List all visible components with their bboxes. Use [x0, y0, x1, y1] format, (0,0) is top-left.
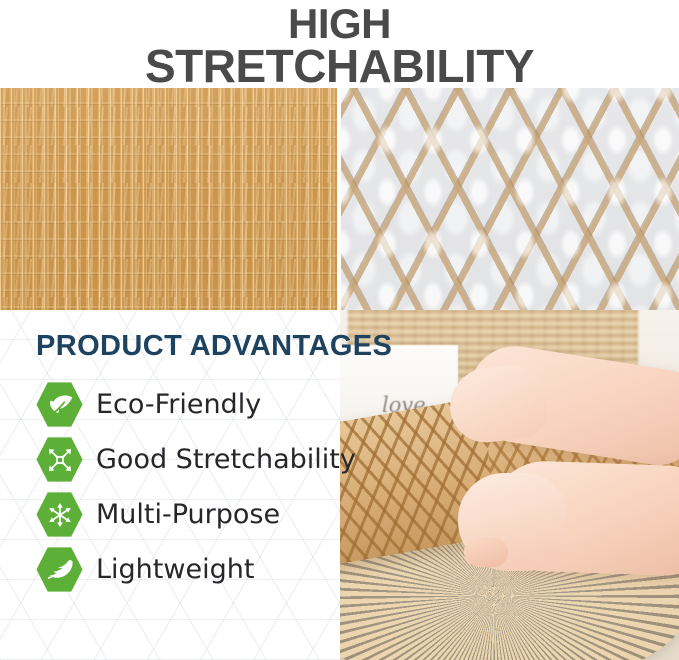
- honeycomb-mesh-texture: [341, 88, 679, 310]
- kraft-honeycomb-texture: [0, 88, 337, 310]
- feather-icon: [36, 546, 83, 593]
- multi-arrows-icon: [36, 491, 83, 538]
- headline-line-2: STRETCHABILITY: [0, 44, 679, 88]
- feature-label: Lightweight: [96, 554, 254, 585]
- product-infographic: HIGH STRETCHABILITY love PRODUCT ADVANTA…: [0, 0, 679, 660]
- advantages-list: Eco-Friendly: [36, 377, 392, 597]
- lower-hand-finger: [464, 537, 508, 567]
- comparison-panels: [0, 88, 679, 310]
- panel-unstretched-paper: [0, 88, 337, 310]
- feature-label: Good Stretchability: [96, 444, 356, 475]
- page-title: HIGH STRETCHABILITY: [0, 0, 679, 88]
- list-item-good-stretchability: Good Stretchability: [36, 432, 392, 487]
- panel-stretched-mesh: [341, 88, 679, 310]
- leaf-icon: [36, 381, 83, 428]
- list-item-lightweight: Lightweight: [36, 542, 392, 597]
- headline-line-1: HIGH: [0, 4, 679, 44]
- list-item-eco-friendly: Eco-Friendly: [36, 377, 392, 432]
- product-advantages-section: PRODUCT ADVANTAGES Eco-Friendly: [36, 330, 392, 597]
- stretch-arrows-icon: [36, 436, 83, 483]
- feature-label: Eco-Friendly: [96, 389, 261, 420]
- feature-label: Multi-Purpose: [96, 499, 280, 530]
- list-item-multi-purpose: Multi-Purpose: [36, 487, 392, 542]
- advantages-heading: PRODUCT ADVANTAGES: [36, 330, 392, 363]
